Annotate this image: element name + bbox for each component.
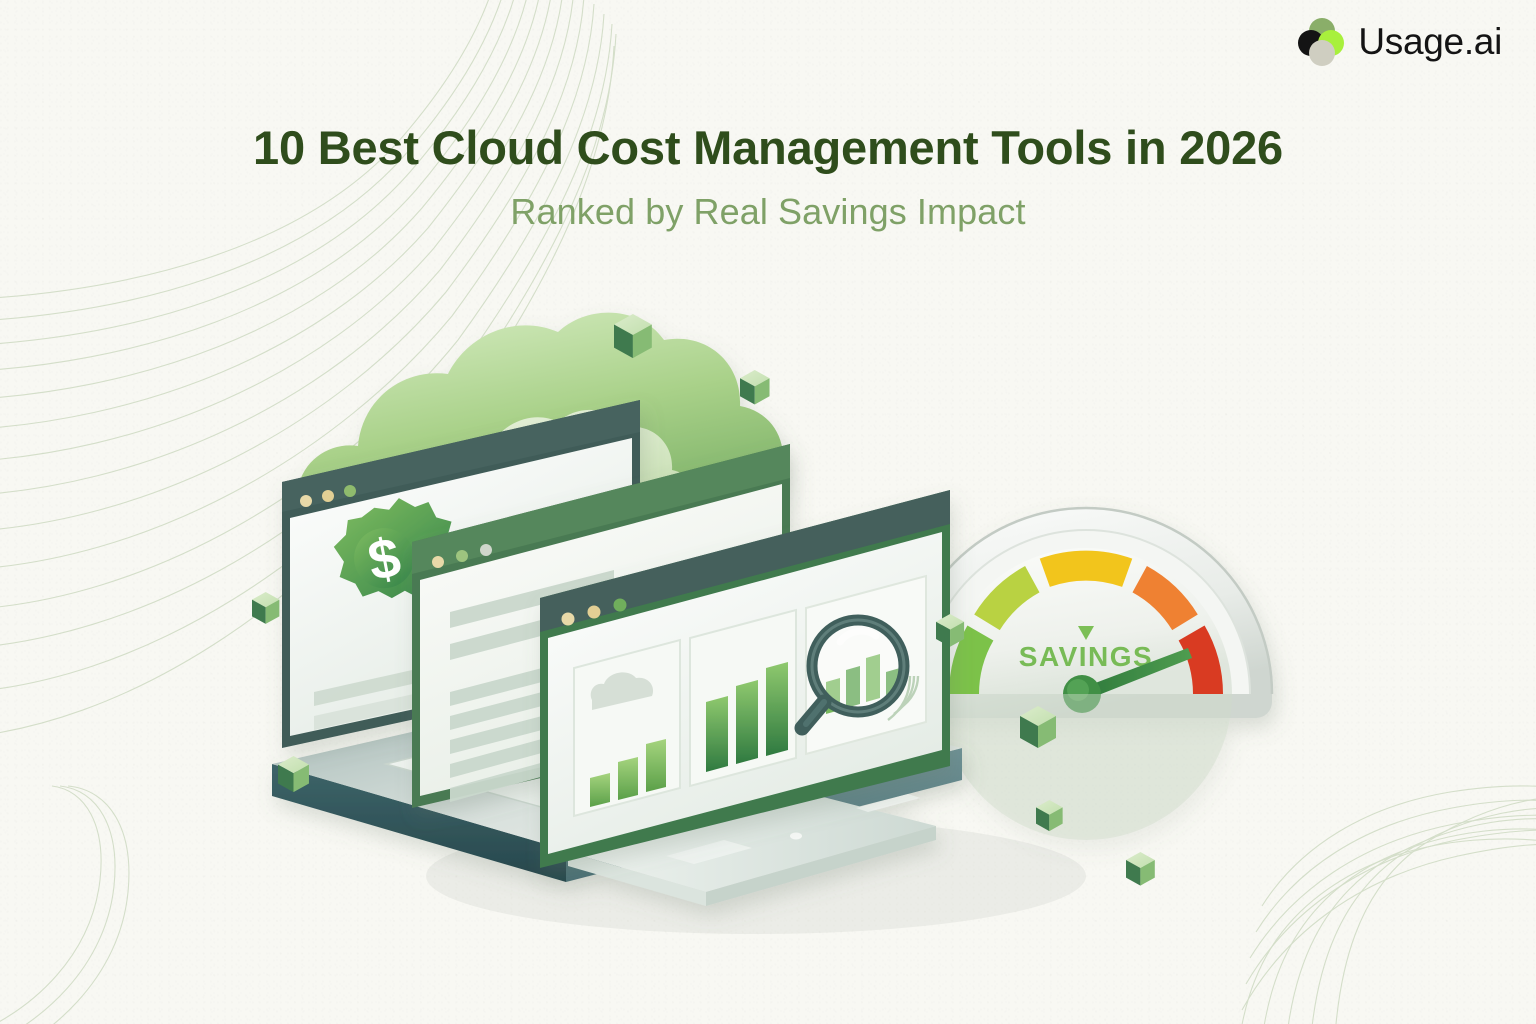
- window-dot-1: [562, 613, 575, 626]
- bar-3: [646, 739, 666, 792]
- header-block: 10 Best Cloud Cost Management Tools in 2…: [0, 122, 1536, 233]
- window-dot-2: [456, 550, 468, 562]
- bar-2: [618, 757, 638, 800]
- gauge-label: SAVINGS: [1019, 641, 1153, 672]
- window-dot-2: [588, 606, 601, 619]
- window-dot-2: [322, 490, 334, 502]
- deco-left-swirl: [0, 786, 129, 1024]
- four-circle-cloverleaf-logo-icon: [1298, 18, 1345, 65]
- brand-logo[interactable]: Usage.ai: [1298, 18, 1502, 65]
- page-subtitle: Ranked by Real Savings Impact: [0, 191, 1536, 233]
- bar-1: [706, 696, 728, 772]
- laptop-indicator: [790, 833, 802, 840]
- bar-2: [736, 680, 758, 764]
- page-title: 10 Best Cloud Cost Management Tools in 2…: [0, 122, 1536, 175]
- hero-illustration: SAVINGS: [236, 296, 1300, 956]
- hero-banner: Usage.ai 10 Best Cloud Cost Management T…: [0, 0, 1536, 1024]
- savings-gauge: SAVINGS: [900, 508, 1272, 840]
- card-cloud-bar-chart: [574, 640, 680, 816]
- brand-wordmark: Usage.ai: [1358, 21, 1502, 63]
- cube: [252, 592, 279, 624]
- bar-3: [766, 662, 788, 756]
- cube: [1126, 852, 1155, 886]
- window-dot-1: [300, 495, 312, 507]
- window-dot-3: [344, 485, 356, 497]
- window-dot-3: [480, 544, 492, 556]
- window-dot-3: [614, 599, 627, 612]
- bar-1: [590, 773, 610, 807]
- cube: [740, 370, 770, 404]
- card-bar-chart: [690, 610, 796, 786]
- window-dot-1: [432, 556, 444, 568]
